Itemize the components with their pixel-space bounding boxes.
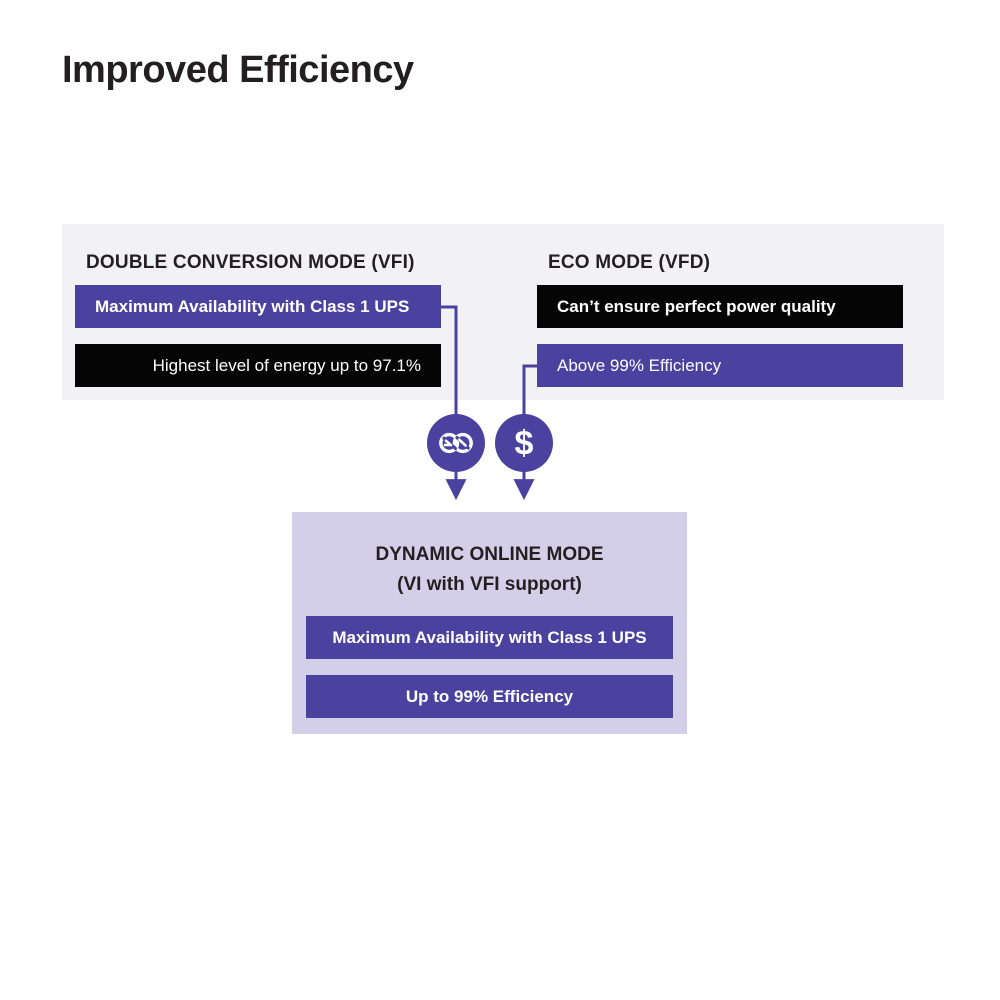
svg-text:$: $ [515,425,534,463]
bar-dynamic-up-to-99: Up to 99% Efficiency [306,675,673,718]
dollar-icon: $ [495,414,553,472]
dynamic-mode-heading: DYNAMIC ONLINE MODE (VI with VFI support… [292,540,687,600]
dynamic-mode-heading-line1: DYNAMIC ONLINE MODE [292,540,687,570]
bar-vfi-highest-energy: Highest level of energy up to 97.1% [75,344,441,387]
connector-lines [0,0,1000,1000]
bar-eco-power-quality: Can’t ensure perfect power quality [537,285,903,328]
dollar-glyph: $ [504,423,544,463]
dynamic-online-mode-box: DYNAMIC ONLINE MODE (VI with VFI support… [292,512,687,734]
diagram-canvas: Improved Efficiency DOUBLE CONVERSION MO… [0,0,1000,1000]
mode-heading-eco: ECO MODE (VFD) [548,252,710,274]
mode-heading-double-conversion: DOUBLE CONVERSION MODE (VFI) [86,252,415,274]
infinity-power-icon [427,414,485,472]
bar-dynamic-max-availability: Maximum Availability with Class 1 UPS [306,616,673,659]
bar-vfi-max-availability: Maximum Availability with Class 1 UPS [75,285,441,328]
page-title: Improved Efficiency [62,49,414,92]
modes-panel: DOUBLE CONVERSION MODE (VFI) Maximum Ava… [62,224,944,400]
bar-eco-above-99: Above 99% Efficiency [537,344,903,387]
dynamic-mode-heading-line2: (VI with VFI support) [292,570,687,600]
infinity-power-glyph [436,423,476,463]
